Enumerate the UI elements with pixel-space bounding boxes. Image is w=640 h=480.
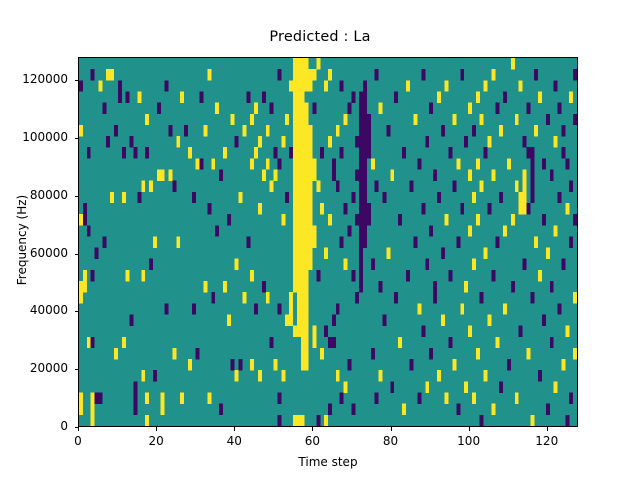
x-tick-label: 0 xyxy=(38,434,118,448)
y-tick-label: 80000 xyxy=(0,188,68,202)
matplotlib-figure: Predicted : La 0200004000060000800001000… xyxy=(0,0,640,480)
x-tick-label: 100 xyxy=(429,434,509,448)
y-tick-label: 100000 xyxy=(0,130,68,144)
x-tick-label: 40 xyxy=(194,434,274,448)
y-tick-label: 20000 xyxy=(0,361,68,375)
y-tick-label: 0 xyxy=(0,419,68,433)
x-tick-label: 20 xyxy=(116,434,196,448)
chart-title: Predicted : La xyxy=(0,29,640,45)
y-tick-label: 40000 xyxy=(0,303,68,317)
x-tick-mark xyxy=(391,427,392,431)
heatmap-axes xyxy=(78,57,578,427)
x-tick-mark xyxy=(469,427,470,431)
y-tick-mark xyxy=(75,138,79,139)
y-tick-mark xyxy=(75,311,79,312)
x-axis-label: Time step xyxy=(78,455,578,469)
y-tick-label: 60000 xyxy=(0,246,68,260)
x-tick-mark xyxy=(312,427,313,431)
x-tick-label: 80 xyxy=(351,434,431,448)
x-tick-label: 60 xyxy=(272,434,352,448)
y-tick-label: 120000 xyxy=(0,72,68,86)
y-tick-mark xyxy=(75,196,79,197)
y-tick-mark xyxy=(75,80,79,81)
x-tick-label: 120 xyxy=(507,434,587,448)
x-tick-mark xyxy=(78,427,79,431)
y-tick-mark xyxy=(75,254,79,255)
x-tick-mark xyxy=(156,427,157,431)
y-axis-label: Frequency (Hz) xyxy=(15,170,29,310)
heatmap-canvas xyxy=(79,58,577,426)
x-tick-mark xyxy=(547,427,548,431)
x-tick-mark xyxy=(234,427,235,431)
y-tick-mark xyxy=(75,369,79,370)
